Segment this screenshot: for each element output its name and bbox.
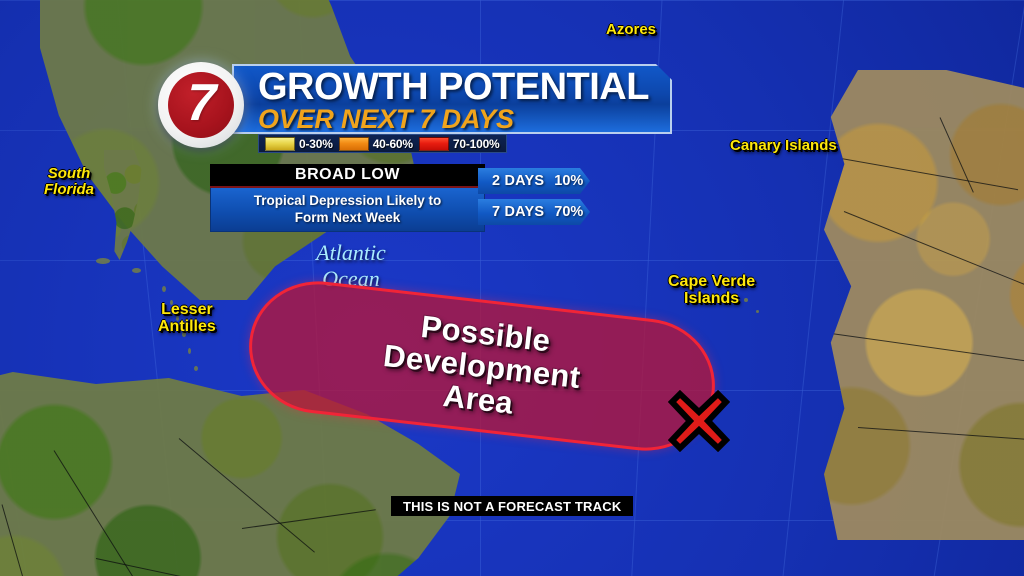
island-dot [182, 332, 186, 337]
island-dot [96, 258, 110, 264]
odds-period-7-days: 7 DAYS [492, 204, 544, 220]
system-name: BROAD LOW [295, 166, 400, 184]
legend-item-medium: 40-60% [339, 137, 413, 151]
system-name-header: BROAD LOW [210, 164, 485, 188]
island-dot [132, 268, 141, 273]
island-dot [194, 366, 198, 371]
island-dot [188, 348, 191, 354]
system-info-panel: BROAD LOW Tropical Depression Likely to … [210, 164, 485, 232]
x-marker-icon [668, 390, 730, 452]
logo-seven-glyph: 7 [186, 77, 217, 129]
system-description-body: Tropical Depression Likely to Form Next … [210, 188, 485, 232]
island-dot [744, 298, 748, 302]
probability-legend: 0-30% 40-60% 70-100% [258, 134, 507, 153]
legend-label-high: 70-100% [453, 137, 500, 151]
legend-item-low: 0-30% [265, 137, 333, 151]
weather-graphic: South Florida Lesser Antilles Azores Can… [0, 0, 1024, 576]
logo-disc: 7 [168, 72, 234, 138]
odds-period-2-days: 2 DAYS [492, 173, 544, 189]
legend-item-high: 70-100% [419, 137, 500, 151]
legend-swatch-low [265, 137, 295, 151]
channel-7-logo: 7 [158, 62, 244, 148]
island-dot [162, 286, 166, 292]
disclaimer-banner: THIS IS NOT A FORECAST TRACK [391, 496, 633, 516]
legend-label-medium: 40-60% [373, 137, 413, 151]
title-main: GROWTH POTENTIAL [258, 66, 649, 109]
odds-value-7-days: 70% [554, 204, 583, 220]
legend-swatch-high [419, 137, 449, 151]
title-subtitle: OVER NEXT 7 DAYS [258, 104, 514, 135]
island-dot [756, 310, 759, 313]
system-description: Tropical Depression Likely to Form Next … [254, 193, 442, 226]
legend-label-low: 0-30% [299, 137, 333, 151]
odds-value-2-days: 10% [554, 173, 583, 189]
odds-row-2-days: 2 DAYS 10% [478, 168, 590, 194]
island-dot [170, 300, 173, 305]
legend-swatch-medium [339, 137, 369, 151]
odds-row-7-days: 7 DAYS 70% [478, 199, 590, 225]
island-dot [176, 316, 179, 321]
disclaimer-text: THIS IS NOT A FORECAST TRACK [403, 499, 621, 514]
title-banner: GROWTH POTENTIAL OVER NEXT 7 DAYS [232, 64, 672, 134]
